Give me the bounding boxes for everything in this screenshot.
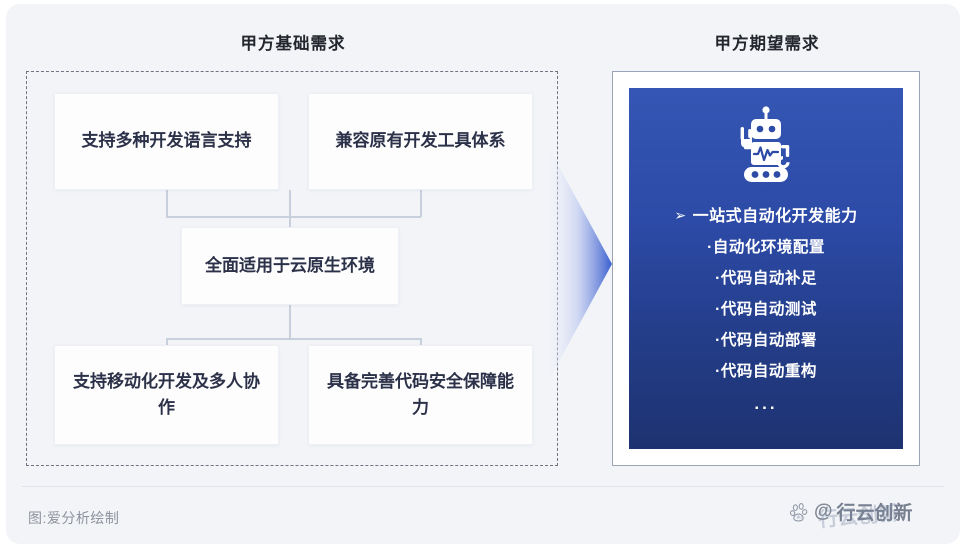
connector-vertical-bottom-center [289,305,291,340]
footer-divider [22,486,944,487]
connector-vertical-top-right [420,190,422,217]
baidu-paw-icon: du [790,502,810,522]
robot-icon [723,106,809,190]
capability-list: ➢一站式自动化开发能力 ·自动化环境配置 ·代码自动补足 ·代码自动测试 ·代码… [629,202,903,414]
right-section-title: 甲方期望需求 [608,30,926,54]
node-label: 支持多种开发语言支持 [82,128,252,154]
arrow-bullet-icon: ➢ [674,207,686,224]
svg-text:du: du [797,514,803,519]
watermark-at-symbol: @ [814,502,833,521]
node-mobile-collaboration[interactable]: 支持移动化开发及多人协作 [54,345,279,445]
capability-item: ·代码自动补足 [715,266,817,288]
capability-ellipsis: ... [754,394,777,414]
left-section-title: 甲方基础需求 [0,30,586,54]
node-label: 全面适用于云原生环境 [205,253,375,279]
blue-panel: ➢一站式自动化开发能力 ·自动化环境配置 ·代码自动补足 ·代码自动测试 ·代码… [629,88,903,449]
capability-lead: ➢一站式自动化开发能力 [674,202,857,226]
node-label: 具备完善代码安全保障能力 [319,369,522,422]
node-label: 支持移动化开发及多人协作 [65,369,268,422]
connector-vertical-top-center [289,190,291,227]
connector-horizontal-top [166,216,421,218]
node-code-security[interactable]: 具备完善代码安全保障能力 [308,345,533,445]
connector-horizontal-bottom [166,338,421,340]
watermark-brand: 行云创新 [837,498,913,525]
capability-lead-label: 一站式自动化开发能力 [693,208,858,225]
node-cloud-native[interactable]: 全面适用于云原生环境 [181,227,399,305]
expected-requirements-frame: ➢一站式自动化开发能力 ·自动化环境配置 ·代码自动补足 ·代码自动测试 ·代码… [612,71,920,466]
node-label: 兼容原有开发工具体系 [336,128,506,154]
watermark: du @ 行云创新 [790,498,913,525]
node-tool-compatibility[interactable]: 兼容原有开发工具体系 [308,93,533,190]
diagram-canvas: 甲方基础需求 甲方期望需求 支持多种开发语言支持 兼容原有开发工具体系 全面适用… [0,0,966,556]
source-caption: 图:爱分析绘制 [28,508,119,528]
connector-vertical-top-left [166,190,168,217]
capability-item: ·代码自动重构 [715,359,817,381]
capability-item: ·代码自动部署 [715,328,817,350]
capability-item: ·代码自动测试 [715,297,817,319]
capability-item: ·自动化环境配置 [707,235,825,257]
node-multi-language-support[interactable]: 支持多种开发语言支持 [54,93,279,190]
flow-arrow [548,150,618,378]
